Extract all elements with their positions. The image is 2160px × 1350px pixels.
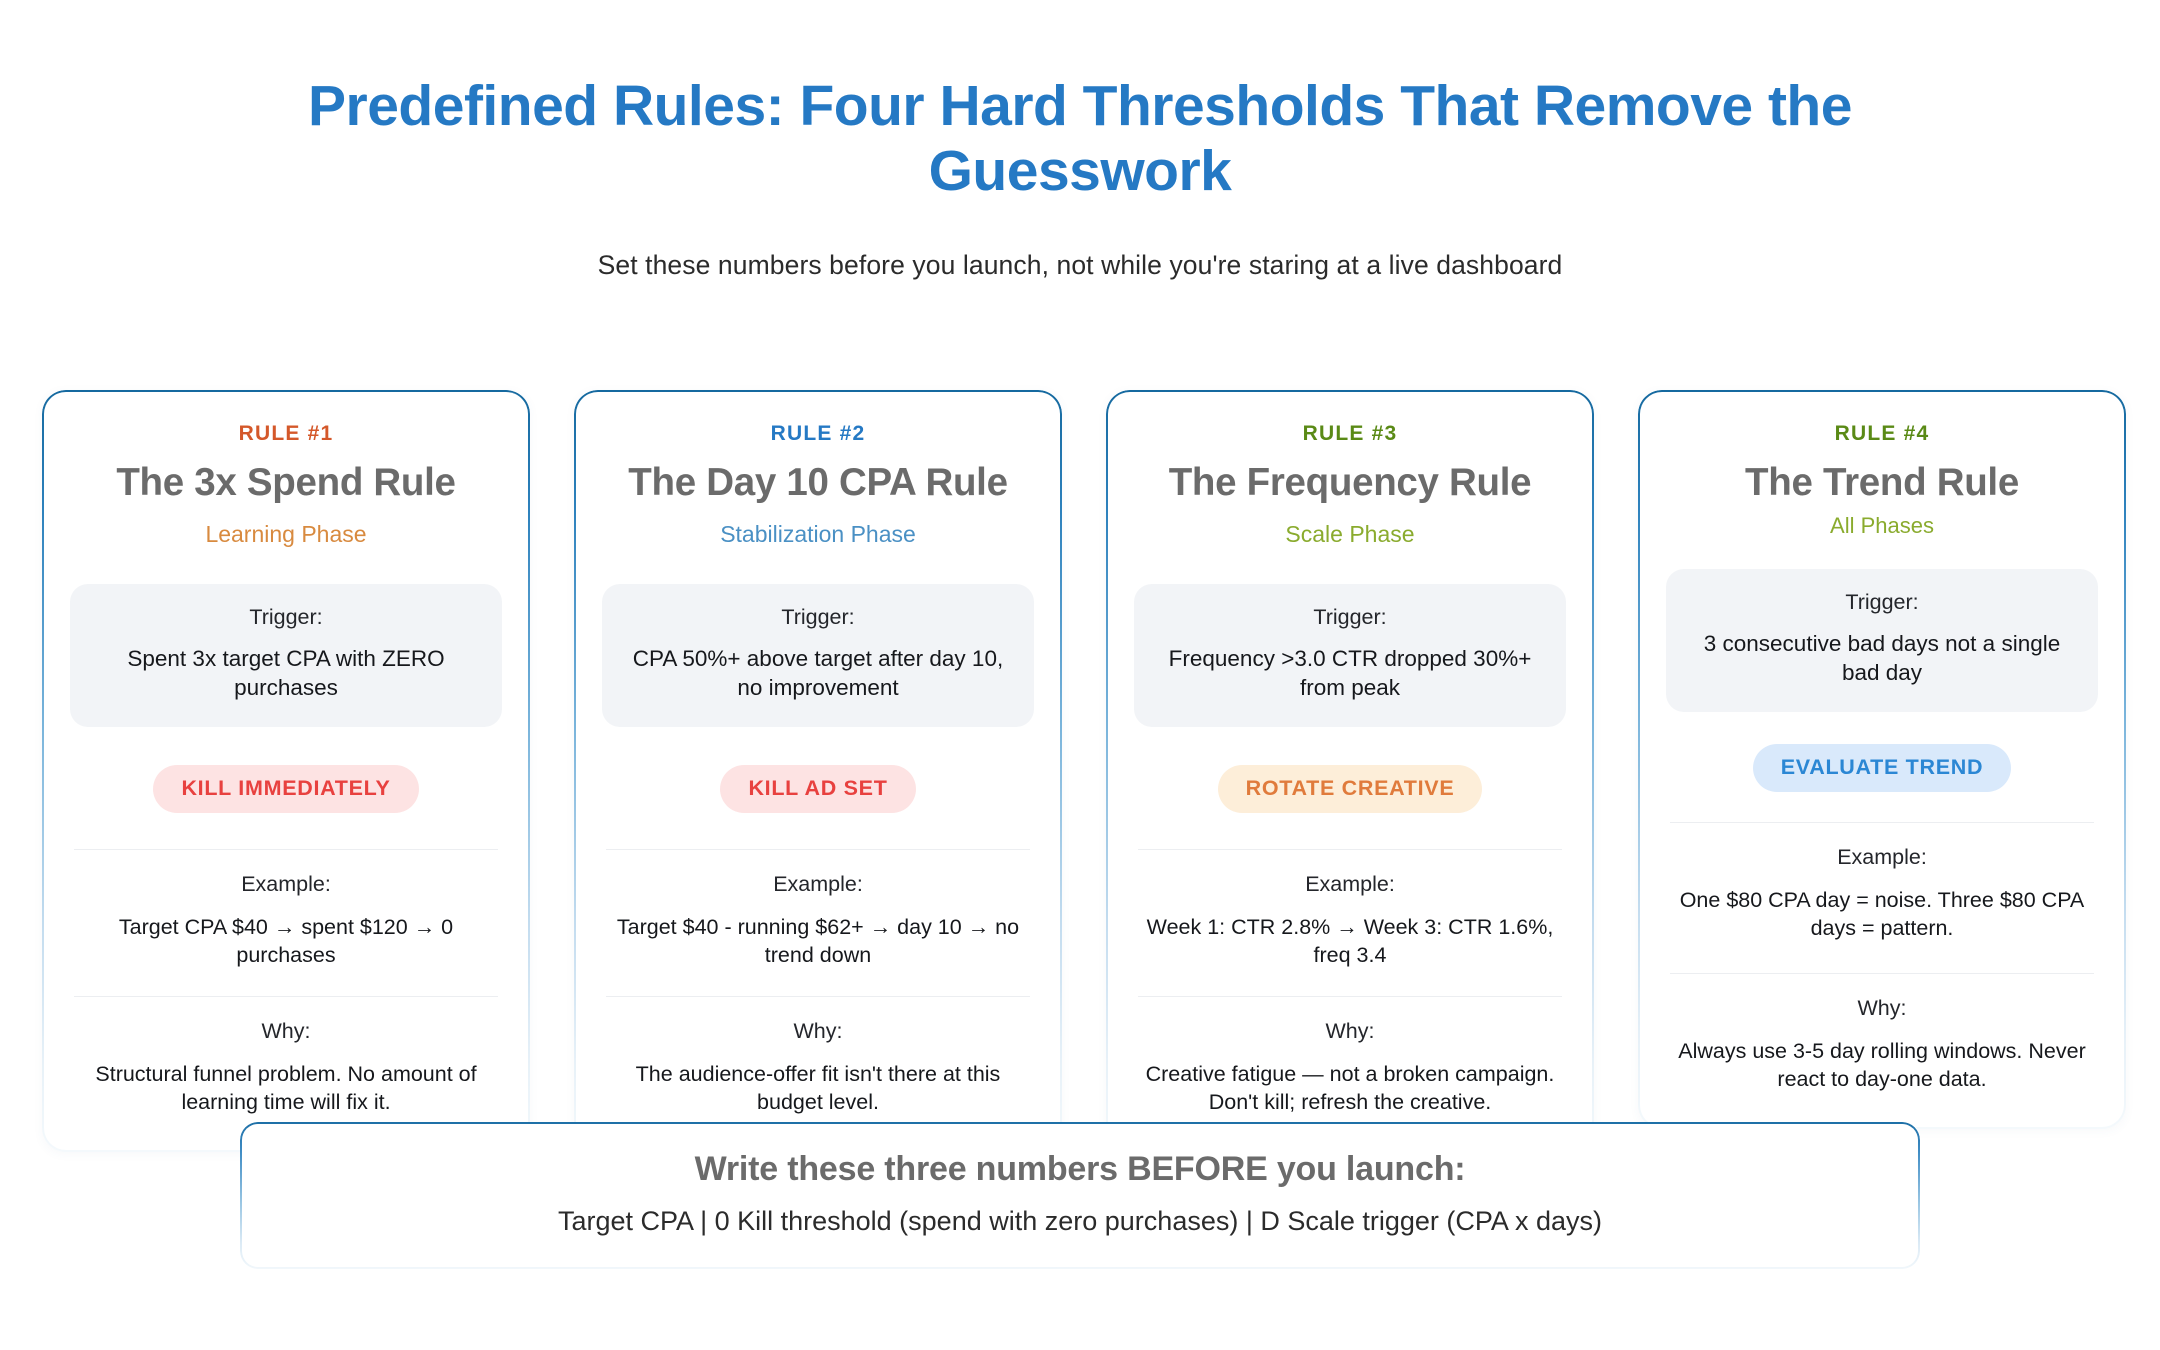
divider — [1670, 822, 2094, 823]
page-title: Predefined Rules: Four Hard Thresholds T… — [300, 74, 1860, 204]
rule-card-1-trigger-box: Trigger: Spent 3x target CPA with ZERO p… — [70, 584, 502, 727]
rule-card-4-why-text: Always use 3-5 day rolling windows. Neve… — [1666, 1037, 2098, 1094]
why-label: Why: — [1134, 1019, 1566, 1044]
example-label: Example: — [1666, 845, 2098, 870]
rule-card-3-action-badge: ROTATE CREATIVE — [1218, 765, 1483, 813]
rule-card-1-action-badge: KILL IMMEDIATELY — [153, 765, 418, 813]
rule-card-3-badge-wrap: ROTATE CREATIVE — [1134, 765, 1566, 813]
divider — [1670, 973, 2094, 974]
rule-card-2-badge-wrap: KILL AD SET — [602, 765, 1034, 813]
trigger-label: Trigger: — [624, 605, 1012, 630]
why-label: Why: — [1666, 996, 2098, 1021]
rule-card-4-badge-wrap: EVALUATE TREND — [1666, 744, 2098, 792]
header: Predefined Rules: Four Hard Thresholds T… — [0, 0, 2160, 281]
rule-card-2-trigger-box: Trigger: CPA 50%+ above target after day… — [602, 584, 1034, 727]
divider — [74, 996, 498, 997]
rule-card-1-why-text: Structural funnel problem. No amount of … — [70, 1060, 502, 1117]
rule-card-3-title: The Frequency Rule — [1134, 462, 1566, 504]
rule-card-2-example-text: Target $40 - running $62+ → day 10 → no … — [602, 913, 1034, 970]
rule-card-2-phase: Stabilization Phase — [602, 521, 1034, 548]
footer-banner: Write these three numbers BEFORE you lau… — [240, 1122, 1920, 1269]
rule-card-1-label: RULE #1 — [70, 422, 502, 446]
footer-subtitle: Target CPA | 0 Kill threshold (spend wit… — [272, 1206, 1888, 1237]
rule-card-4-trigger-box: Trigger: 3 consecutive bad days not a si… — [1666, 569, 2098, 712]
rule-card-2-trigger-text: CPA 50%+ above target after day 10, no i… — [624, 645, 1012, 703]
example-label: Example: — [1134, 872, 1566, 897]
divider — [606, 849, 1030, 850]
rule-card-3-why-text: Creative fatigue — not a broken campaign… — [1134, 1060, 1566, 1117]
rule-card-3-example-text: Week 1: CTR 2.8% → Week 3: CTR 1.6%, fre… — [1134, 913, 1566, 970]
rule-card-1-trigger-text: Spent 3x target CPA with ZERO purchases — [92, 645, 480, 703]
infographic-page: Predefined Rules: Four Hard Thresholds T… — [0, 0, 2160, 1350]
rule-card-4-label: RULE #4 — [1666, 422, 2098, 446]
trigger-label: Trigger: — [92, 605, 480, 630]
rule-card-1: RULE #1 The 3x Spend Rule Learning Phase… — [42, 390, 530, 1152]
trigger-label: Trigger: — [1688, 590, 2076, 615]
rule-card-4-example-text: One $80 CPA day = noise. Three $80 CPA d… — [1666, 886, 2098, 943]
rule-card-4: RULE #4 The Trend Rule All Phases Trigge… — [1638, 390, 2126, 1129]
trigger-label: Trigger: — [1156, 605, 1544, 630]
rule-card-4-trigger-text: 3 consecutive bad days not a single bad … — [1688, 630, 2076, 688]
divider — [606, 996, 1030, 997]
rule-card-2-title: The Day 10 CPA Rule — [602, 462, 1034, 504]
page-subtitle: Set these numbers before you launch, not… — [0, 250, 2160, 281]
rule-card-1-phase: Learning Phase — [70, 521, 502, 548]
example-label: Example: — [602, 872, 1034, 897]
rule-card-2-label: RULE #2 — [602, 422, 1034, 446]
rule-card-2-why-text: The audience-offer fit isn't there at th… — [602, 1060, 1034, 1117]
example-label: Example: — [70, 872, 502, 897]
rule-card-3-trigger-box: Trigger: Frequency >3.0 CTR dropped 30%+… — [1134, 584, 1566, 727]
rule-card-1-title: The 3x Spend Rule — [70, 462, 502, 504]
rule-card-2: RULE #2 The Day 10 CPA Rule Stabilizatio… — [574, 390, 1062, 1152]
divider — [1138, 849, 1562, 850]
rule-card-4-title: The Trend Rule — [1666, 462, 2098, 504]
rule-card-1-example-text: Target CPA $40 → spent $120 → 0 purchase… — [70, 913, 502, 970]
rule-card-3-label: RULE #3 — [1134, 422, 1566, 446]
rule-card-3-phase: Scale Phase — [1134, 521, 1566, 548]
rule-card-2-action-badge: KILL AD SET — [720, 765, 915, 813]
rule-card-4-action-badge: EVALUATE TREND — [1753, 744, 2012, 792]
why-label: Why: — [70, 1019, 502, 1044]
divider — [74, 849, 498, 850]
divider — [1138, 996, 1562, 997]
footer-title: Write these three numbers BEFORE you lau… — [272, 1150, 1888, 1189]
rule-card-3: RULE #3 The Frequency Rule Scale Phase T… — [1106, 390, 1594, 1152]
rule-card-4-phase: All Phases — [1666, 513, 2098, 539]
rule-cards-row: RULE #1 The 3x Spend Rule Learning Phase… — [42, 390, 2126, 1152]
why-label: Why: — [602, 1019, 1034, 1044]
rule-card-3-trigger-text: Frequency >3.0 CTR dropped 30%+ from pea… — [1156, 645, 1544, 703]
rule-card-1-badge-wrap: KILL IMMEDIATELY — [70, 765, 502, 813]
